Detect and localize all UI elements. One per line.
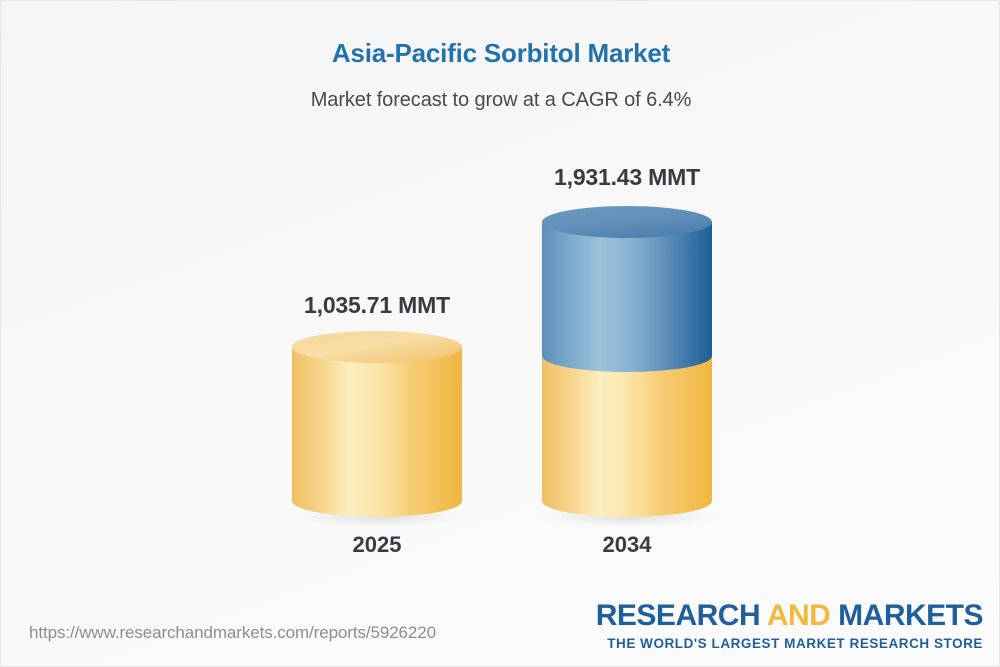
logo-word-markets: MARKETS [830, 599, 983, 632]
chart-canvas: Asia-Pacific Sorbitol Market Market fore… [0, 0, 1000, 667]
report-url[interactable]: https://www.researchandmarkets.com/repor… [29, 623, 436, 643]
logo-wordmark: RESEARCH AND MARKETS [596, 601, 983, 631]
bar-body [292, 347, 462, 517]
bar-2025 [287, 331, 487, 531]
bar-category-label-2025: 2025 [277, 532, 477, 558]
bar-top-cap [292, 331, 462, 363]
logo-word-research: RESEARCH [596, 599, 767, 632]
research-and-markets-logo[interactable]: RESEARCH AND MARKETS THE WORLD'S LARGEST… [596, 601, 983, 651]
bar-segment-growth [542, 222, 712, 372]
page-subtitle: Market forecast to grow at a CAGR of 6.4… [1, 89, 1000, 112]
bar-2034 [537, 199, 747, 539]
bar-top-cap [542, 206, 712, 238]
bar-value-label-2025: 1,035.71 MMT [277, 292, 477, 319]
bar-value-label-2034: 1,931.43 MMT [527, 164, 727, 191]
logo-tagline: THE WORLD'S LARGEST MARKET RESEARCH STOR… [596, 637, 983, 651]
bar-segment-base [542, 356, 712, 517]
bar-category-label-2034: 2034 [527, 532, 727, 558]
logo-word-and: AND [767, 599, 831, 632]
page-title: Asia-Pacific Sorbitol Market [1, 38, 1000, 69]
